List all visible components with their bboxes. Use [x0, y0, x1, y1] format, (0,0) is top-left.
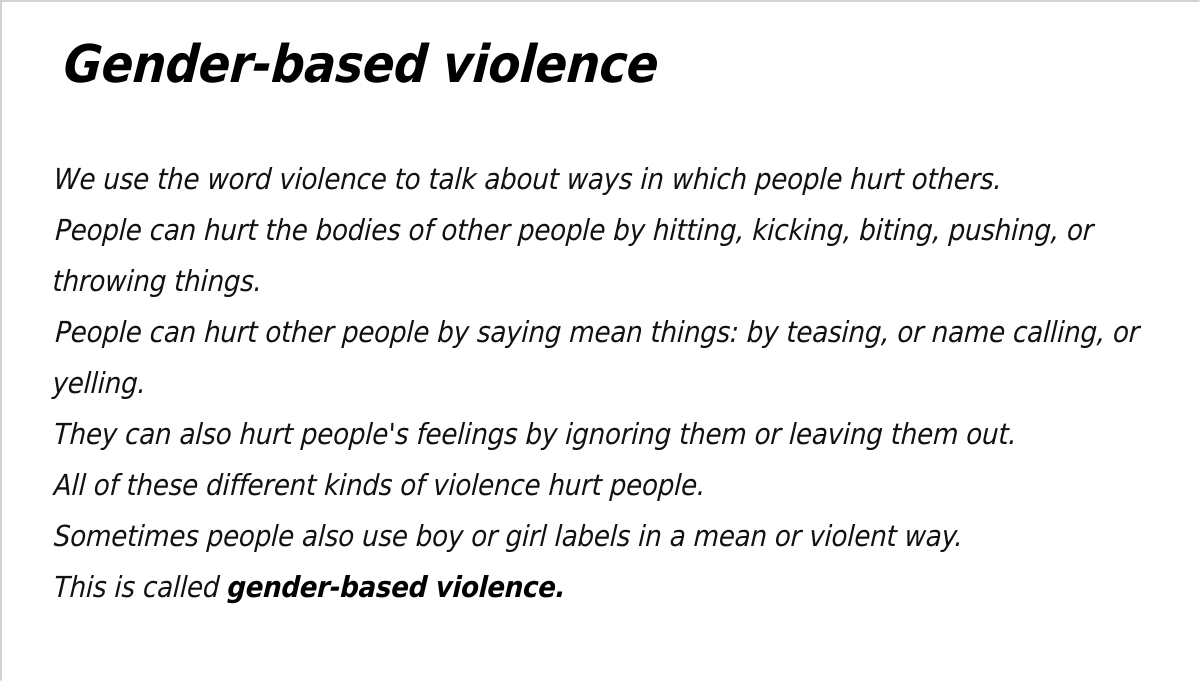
page-title: Gender-based violence — [62, 38, 660, 93]
body-paragraph-3: People can hurt other people by saying m… — [51, 307, 1182, 409]
body-text-block: We use the word violence to talk about w… — [54, 154, 1180, 613]
body-paragraph-6: Sometimes people also use boy or girl la… — [53, 511, 1182, 562]
final-line-emphasis-text: gender-based violence. — [227, 570, 567, 604]
body-paragraph-5: All of these different kinds of violence… — [53, 460, 1182, 511]
body-paragraph-2: People can hurt the bodies of other peop… — [51, 205, 1182, 307]
slide-container: Gender-based violence We use the word vi… — [0, 0, 1200, 681]
body-paragraph-4: They can also hurt people's feelings by … — [53, 409, 1182, 460]
body-paragraph-final: This is called gender-based violence. — [53, 562, 1182, 613]
body-paragraph-1: We use the word violence to talk about w… — [53, 154, 1182, 205]
final-line-lead-text: This is called — [53, 570, 228, 604]
slide-content-area: Gender-based violence We use the word vi… — [2, 2, 1199, 680]
